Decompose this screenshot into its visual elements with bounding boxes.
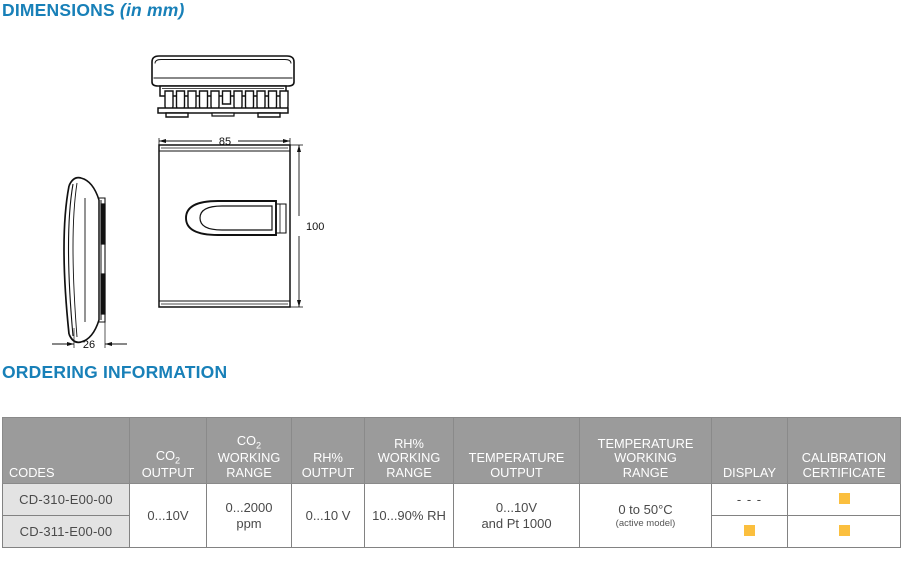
side-view [64, 178, 105, 343]
header-rh-range-l1: RH% [394, 436, 424, 451]
header-co2-output-l3: OUTPUT [142, 465, 195, 480]
header-cert-l2: CALIBRATION [802, 450, 886, 465]
table-header-row: CODES CO2 OUTPUT CO2 WORKING RANGE RH% O… [3, 418, 901, 484]
top-view [152, 56, 294, 117]
dimension-label-height: 100 [306, 221, 324, 233]
table-row: CD-310-E00-00 0...10V 0...2000 ppm 0...1… [3, 484, 901, 516]
cell-temp-range-value: 0 to 50°C [618, 502, 672, 517]
dimension-label-depth: 26 [83, 339, 95, 348]
header-co2-output-l2: CO [156, 448, 175, 463]
header-temperature-output: TEMPERATURE OUTPUT [454, 418, 580, 484]
cell-code-row1: CD-310-E00-00 [3, 484, 130, 516]
orange-square-marker-icon [839, 525, 850, 536]
dimension-label-width: 85 [219, 136, 231, 148]
technical-drawing: 85 100 26 [0, 38, 904, 348]
cell-rh-output: 0...10 V [292, 484, 365, 548]
header-rh-output-l2: RH% [313, 450, 343, 465]
header-co2-range-l1: CO [237, 433, 256, 448]
front-view [159, 145, 290, 307]
cell-rh-working-range: 10...90% RH [365, 484, 454, 548]
cell-temperature-working-range: 0 to 50°C (active model) [580, 484, 712, 548]
header-display-label: DISPLAY [723, 465, 776, 480]
dimensions-title-main: DIMENSIONS [2, 0, 120, 20]
orange-square-marker-icon [744, 525, 755, 536]
cell-certificate-row2 [788, 516, 901, 548]
header-rh-range-l3: RANGE [386, 465, 432, 480]
cell-temp-range-note: (active model) [580, 518, 711, 529]
cell-co2-range-l2: ppm [236, 516, 261, 531]
header-temp-range-l3: RANGE [623, 465, 669, 480]
header-cert-l3: CERTIFICATE [803, 465, 886, 480]
cell-co2-range-l1: 0...2000 [226, 500, 273, 515]
cell-certificate-row1 [788, 484, 901, 516]
header-codes-label: CODES [9, 465, 55, 480]
header-temp-range-l1: TEMPERATURE [598, 436, 694, 451]
cell-display-row1: - - - [712, 484, 788, 516]
header-temperature-working-range: TEMPERATURE WORKING RANGE [580, 418, 712, 484]
header-rh-output: RH% OUTPUT [292, 418, 365, 484]
header-rh-output-l3: OUTPUT [302, 465, 355, 480]
header-co2-working-range: CO2 WORKING RANGE [207, 418, 292, 484]
dashes-mark: - - - [737, 492, 762, 507]
cell-co2-working-range: 0...2000 ppm [207, 484, 292, 548]
ordering-section-title: ORDERING INFORMATION [2, 362, 227, 383]
header-co2-range-l3: RANGE [226, 465, 272, 480]
cell-temperature-output: 0...10V and Pt 1000 [454, 484, 580, 548]
header-temp-output-l3: OUTPUT [490, 465, 543, 480]
cell-co2-output: 0...10V [130, 484, 207, 548]
header-temp-output-l2: TEMPERATURE [469, 450, 565, 465]
header-calibration-certificate: CALIBRATION CERTIFICATE [788, 418, 901, 484]
header-temp-range-l2: WORKING [614, 450, 677, 465]
header-rh-working-range: RH% WORKING RANGE [365, 418, 454, 484]
dimensions-title-unit: (in mm) [120, 0, 185, 20]
dimensions-section-title: DIMENSIONS (in mm) [2, 0, 185, 21]
cell-temp-output-l1: 0...10V [496, 500, 537, 515]
header-co2-range-l2: WORKING [218, 450, 281, 465]
header-co2-output: CO2 OUTPUT [130, 418, 207, 484]
cell-code-row2: CD-311-E00-00 [3, 516, 130, 548]
header-codes: CODES [3, 418, 130, 484]
orange-square-marker-icon [839, 493, 850, 504]
ordering-information-table: CODES CO2 OUTPUT CO2 WORKING RANGE RH% O… [2, 417, 901, 548]
cell-temp-output-l2: and Pt 1000 [481, 516, 551, 531]
header-rh-range-l2: WORKING [378, 450, 441, 465]
cell-display-row2 [712, 516, 788, 548]
header-display: DISPLAY [712, 418, 788, 484]
